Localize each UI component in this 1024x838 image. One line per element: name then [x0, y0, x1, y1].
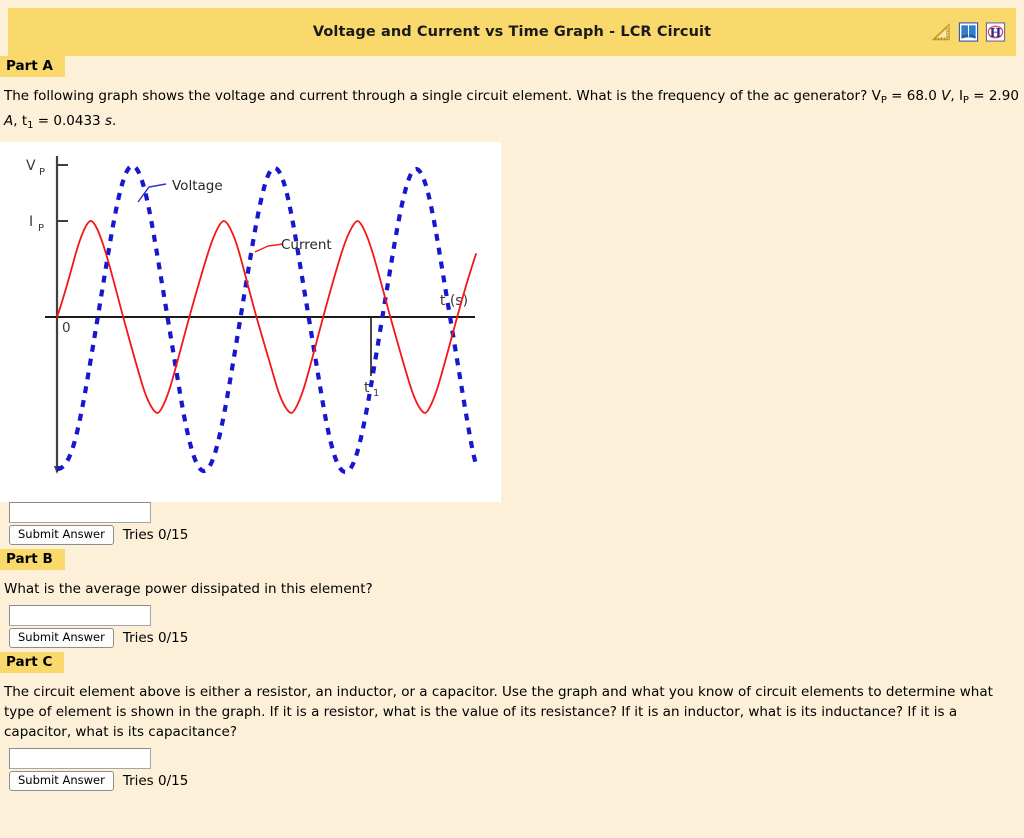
vp-value: = 68.0 V, — [887, 88, 959, 104]
part-a-badge: Part A — [0, 56, 65, 77]
header-icon-group: H — [931, 22, 1006, 43]
svg-text:H: H — [990, 25, 1002, 40]
part-a-answer-row: Submit Answer Tries 0/15 — [9, 525, 1024, 549]
part-a-submit-button[interactable]: Submit Answer — [9, 525, 114, 545]
origin-label: 0 — [62, 320, 71, 336]
y-label-ip: I — [29, 214, 33, 230]
open-book-icon[interactable] — [958, 22, 979, 43]
part-a-answer-input[interactable] — [9, 502, 151, 523]
part-a-prompt-lead: The following graph shows the voltage an… — [4, 88, 872, 104]
section-part-c: Part C The circuit element above is eith… — [0, 652, 1024, 795]
part-c-submit-button[interactable]: Submit Answer — [9, 771, 114, 791]
part-c-badge-row: Part C — [0, 652, 1024, 673]
h-logo-icon[interactable]: H — [985, 22, 1006, 43]
part-b-answer-input[interactable] — [9, 605, 151, 626]
ruler-triangle-icon[interactable] — [931, 22, 952, 43]
section-part-a: Part A The following graph shows the vol… — [0, 56, 1024, 549]
t1-marker-label: t — [364, 380, 370, 396]
t1-symbol: t1 — [22, 113, 34, 129]
part-c-tries: Tries 0/15 — [123, 773, 189, 789]
voltage-current-graph: V P I P 0 t (s) t 1 Voltage Current — [0, 142, 501, 502]
page-header: Voltage and Current vs Time Graph - LCR … — [8, 8, 1016, 56]
page-title: Voltage and Current vs Time Graph - LCR … — [313, 24, 711, 40]
y-label-vp: V — [26, 158, 36, 174]
y-label-vp-sub: P — [39, 167, 45, 178]
vp-symbol: VP — [872, 88, 887, 104]
part-b-prompt: What is the average power dissipated in … — [4, 579, 1020, 599]
t1-value: = 0.0433 s. — [34, 113, 117, 129]
ip-symbol: IP — [959, 88, 969, 104]
part-b-submit-button[interactable]: Submit Answer — [9, 628, 114, 648]
voltage-curve-label: Voltage — [172, 178, 223, 194]
part-c-prompt: The circuit element above is either a re… — [4, 682, 1020, 742]
part-a-badge-row: Part A — [0, 56, 1024, 77]
section-part-b: Part B What is the average power dissipa… — [0, 549, 1024, 652]
current-curve-label: Current — [281, 237, 332, 253]
t1-marker-label-sub: 1 — [373, 388, 379, 399]
part-c-badge: Part C — [0, 652, 64, 673]
part-b-badge: Part B — [0, 549, 65, 570]
part-c-answer-row: Submit Answer Tries 0/15 — [9, 771, 1024, 795]
part-b-tries: Tries 0/15 — [123, 630, 189, 646]
voltage-curve — [57, 166, 476, 472]
part-b-answer-row: Submit Answer Tries 0/15 — [9, 628, 1024, 652]
current-callout-leader — [255, 244, 283, 252]
part-c-answer-input[interactable] — [9, 748, 151, 769]
graph-svg: V P I P 0 t (s) t 1 Voltage Current — [0, 142, 501, 502]
part-b-badge-row: Part B — [0, 549, 1024, 570]
y-label-ip-sub: P — [38, 223, 44, 234]
part-a-tries: Tries 0/15 — [123, 527, 189, 543]
part-a-prompt: The following graph shows the voltage an… — [4, 86, 1020, 136]
